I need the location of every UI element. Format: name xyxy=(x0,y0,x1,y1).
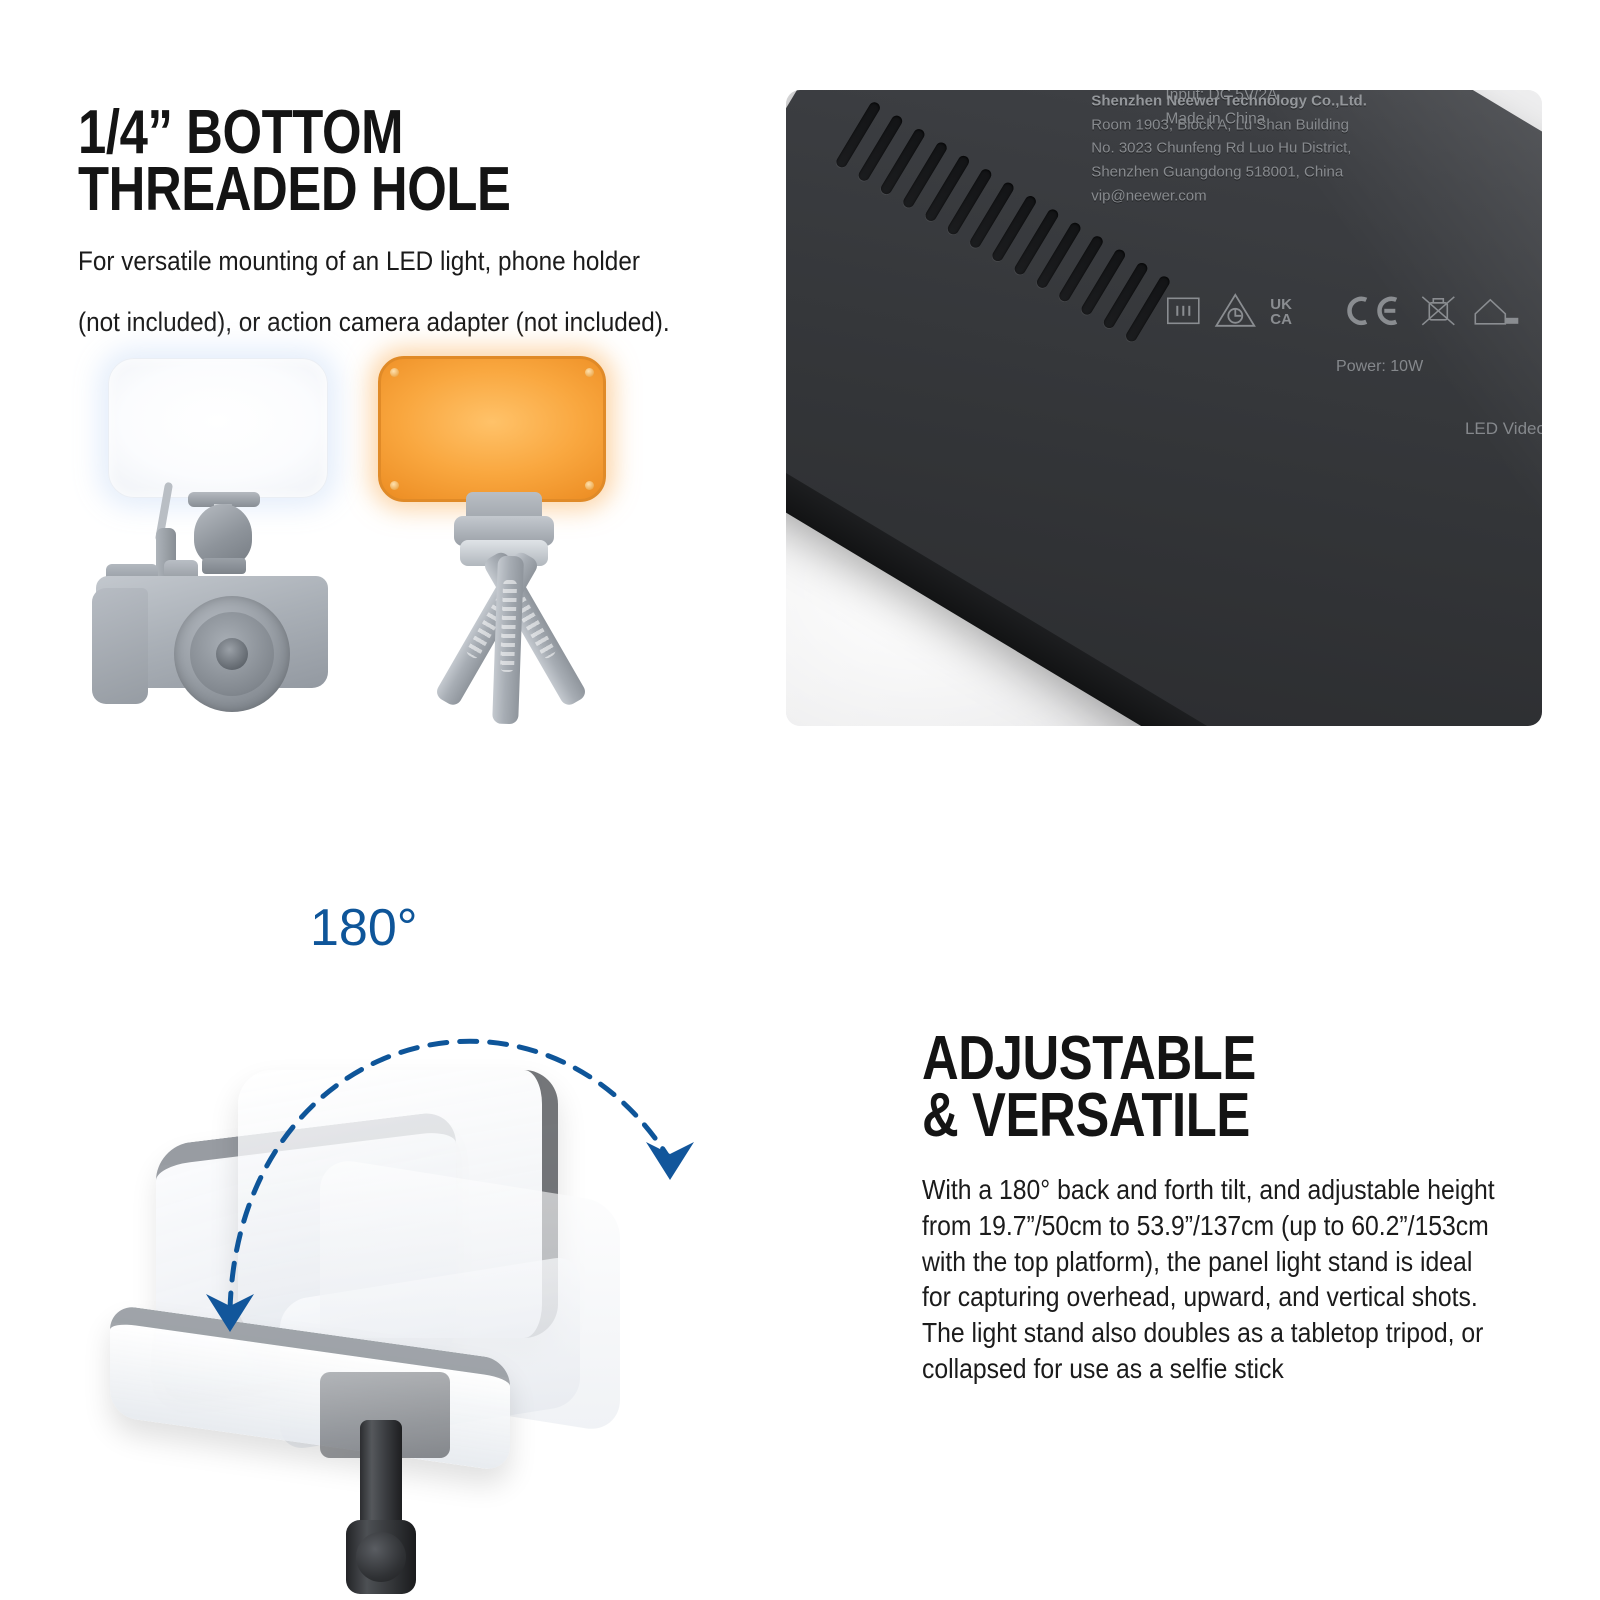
product-photo-back-panel: NeeWeR Model: BP66 Input: DC 5V/2A Made … xyxy=(786,90,1542,726)
ball-head xyxy=(194,504,252,566)
tripod-leg xyxy=(492,556,524,725)
camera-lens xyxy=(174,596,290,712)
stand-tension-knob xyxy=(356,1532,406,1582)
led-panel-white-light xyxy=(108,358,328,498)
address-line-1: Room 1903, Block A, Lu Shan Building xyxy=(1091,113,1367,137)
arrow-head-right xyxy=(646,1142,694,1180)
led-panel-warm-light xyxy=(378,356,606,502)
spec-power: Power: 10W xyxy=(1336,358,1423,376)
camera-mount-illustration xyxy=(90,492,340,724)
threaded-hole-body-line2: (not included), or action camera adapter… xyxy=(78,305,726,340)
rcm-icon xyxy=(1214,293,1256,329)
camera-grip xyxy=(92,588,148,704)
panel-corner-screw xyxy=(585,481,594,490)
svg-text:CA: CA xyxy=(1270,311,1292,328)
panel-corner-screw xyxy=(390,368,399,377)
threaded-hole-heading-line1: 1/4” BOTTOM xyxy=(78,104,668,161)
panel-corner-screw xyxy=(585,368,594,377)
ukca-icon: UK CA xyxy=(1270,294,1328,328)
product-type-text: LED Video Lig xyxy=(1465,419,1542,439)
class-ii-icon xyxy=(1166,296,1200,326)
tripod-leg-tread xyxy=(500,580,517,672)
company-email: vip@neewer.com xyxy=(1091,184,1367,208)
ball-head-base xyxy=(202,558,246,574)
ce-mark-icon xyxy=(1342,294,1404,328)
threaded-hole-body-line1: For versatile mounting of an LED light, … xyxy=(78,244,726,279)
weee-bin-icon xyxy=(1418,291,1458,331)
indoor-use-icon xyxy=(1472,294,1520,328)
adjustable-body-text: With a 180° back and forth tilt, and adj… xyxy=(922,1172,1498,1387)
adjustable-heading-line2: & VERSATILE xyxy=(922,1087,1447,1144)
company-address-block: Shenzhen Neewer Technology Co.,Ltd. Room… xyxy=(1091,90,1367,208)
threaded-hole-heading-line2: THREADED HOLE xyxy=(78,161,668,218)
threaded-hole-section: 1/4” BOTTOM THREADED HOLE For versatile … xyxy=(78,104,798,340)
company-name: Shenzhen Neewer Technology Co.,Ltd. xyxy=(1091,90,1367,113)
tripod-mount-illustration xyxy=(368,492,638,724)
tilt-angle-label: 180° xyxy=(310,898,418,958)
camera-lens-glass xyxy=(216,638,248,670)
adjustable-heading-line1: ADJUSTABLE xyxy=(922,1030,1447,1087)
adjustable-section: ADJUSTABLE & VERSATILE With a 180° back … xyxy=(922,1030,1562,1387)
address-line-3: Shenzhen Guangdong 518001, China xyxy=(1091,160,1367,184)
certification-marks-row: UK CA xyxy=(1166,291,1520,331)
panel-corner-screw xyxy=(390,481,399,490)
product-usage-images xyxy=(90,352,650,732)
address-line-2: No. 3023 Chunfeng Rd Luo Hu District, xyxy=(1091,137,1367,161)
tilt-range-illustration: 180° xyxy=(70,880,790,1580)
camera-lens-barrel xyxy=(190,612,274,696)
